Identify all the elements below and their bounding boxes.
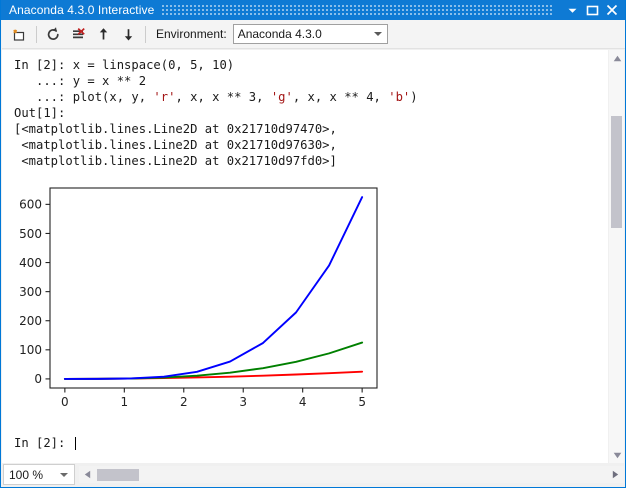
zoom-level-select[interactable]: 100 % [3, 464, 75, 485]
y-tick-label-0: 0 [34, 372, 42, 386]
scroll-up-icon[interactable] [91, 23, 115, 46]
clear-history-icon[interactable] [66, 23, 90, 46]
reset-kernel-icon[interactable] [41, 23, 65, 46]
code-string-literal: 'g' [271, 90, 293, 104]
y-tick-label-3: 300 [19, 285, 42, 299]
chevron-down-icon [374, 32, 382, 36]
code-text: In [2]: x = linspace(0, 5, 10) [14, 58, 234, 72]
scroll-up-arrow-icon[interactable] [609, 50, 625, 66]
x-tick-label-3: 3 [239, 395, 247, 409]
y-tick-label-6: 600 [19, 198, 42, 212]
code-string-literal: 'b' [388, 90, 410, 104]
interactive-console[interactable]: In [2]: x = linspace(0, 5, 10) ...: y = … [2, 50, 611, 463]
maximize-icon[interactable] [582, 1, 602, 19]
console-output: In [2]: x = linspace(0, 5, 10) ...: y = … [2, 50, 611, 169]
toolbar-separator-1 [36, 26, 37, 43]
plot-background [50, 188, 377, 388]
chevron-down-icon [60, 473, 68, 477]
code-text: ...: plot(x, y, [14, 90, 153, 104]
code-text: ...: y = x ** 2 [14, 74, 146, 88]
matplotlib-figure: 0123450100200300400500600 [14, 181, 389, 418]
console-input-line[interactable]: In [2]: [14, 436, 76, 450]
zoom-level-value: 100 % [9, 468, 43, 482]
scroll-down-arrow-icon[interactable] [609, 447, 625, 463]
code-text: <matplotlib.lines.Line2D at 0x21710d97fd… [14, 154, 337, 168]
new-interactive-window-icon[interactable] [7, 23, 31, 46]
x-tick-label-1: 1 [120, 395, 128, 409]
y-tick-label-4: 400 [19, 256, 42, 270]
code-text: Out[1]: [14, 106, 65, 120]
code-text: , x, x ** 3, [175, 90, 270, 104]
environment-selected-value: Anaconda 4.3.0 [238, 27, 322, 41]
vertical-scrollbar[interactable] [608, 50, 624, 463]
titlebar-drag-grip[interactable] [162, 5, 554, 16]
close-icon[interactable] [602, 1, 622, 19]
y-tick-label-2: 200 [19, 314, 42, 328]
title-bar[interactable]: Anaconda 4.3.0 Interactive [1, 0, 626, 20]
vertical-scrollbar-thumb[interactable] [611, 116, 622, 228]
horizontal-scrollbar[interactable] [79, 466, 624, 483]
scroll-down-icon[interactable] [116, 23, 140, 46]
console-line: ...: y = x ** 2 [14, 73, 611, 89]
y-tick-label-1: 100 [19, 343, 42, 357]
code-text: [<matplotlib.lines.Line2D at 0x21710d974… [14, 122, 337, 136]
code-string-literal: 'r' [153, 90, 175, 104]
toolbar: Environment: Anaconda 4.3.0 [2, 20, 626, 49]
plot-canvas: 0123450100200300400500600 [14, 181, 389, 418]
toolbar-separator-2 [145, 26, 146, 43]
chevron-down-icon[interactable] [562, 1, 582, 19]
scroll-right-arrow-icon[interactable] [607, 466, 624, 483]
code-text: <matplotlib.lines.Line2D at 0x21710d9763… [14, 138, 337, 152]
interactive-window: Anaconda 4.3.0 Interactive [0, 0, 626, 488]
console-line: ...: plot(x, y, 'r', x, x ** 3, 'g', x, … [14, 89, 611, 105]
x-tick-label-2: 2 [180, 395, 188, 409]
window-controls [562, 1, 626, 19]
console-line: Out[1]: [14, 105, 611, 121]
window-title: Anaconda 4.3.0 Interactive [1, 3, 154, 17]
console-line: [<matplotlib.lines.Line2D at 0x21710d974… [14, 121, 611, 137]
environment-select[interactable]: Anaconda 4.3.0 [233, 24, 388, 44]
text-caret [75, 437, 76, 450]
environment-label: Environment: [156, 27, 227, 41]
input-prompt-label: In [2]: [14, 436, 73, 450]
code-text: ) [410, 90, 417, 104]
console-line: <matplotlib.lines.Line2D at 0x21710d97fd… [14, 153, 611, 169]
horizontal-scrollbar-thumb[interactable] [97, 469, 139, 481]
x-tick-label-0: 0 [61, 395, 69, 409]
y-tick-label-5: 500 [19, 227, 42, 241]
code-text: , x, x ** 4, [293, 90, 388, 104]
console-line: <matplotlib.lines.Line2D at 0x21710d9763… [14, 137, 611, 153]
x-tick-label-4: 4 [299, 395, 307, 409]
console-line: In [2]: x = linspace(0, 5, 10) [14, 57, 611, 73]
status-bar: 100 % [2, 463, 626, 486]
x-tick-label-5: 5 [358, 395, 366, 409]
scroll-left-arrow-icon[interactable] [79, 466, 96, 483]
